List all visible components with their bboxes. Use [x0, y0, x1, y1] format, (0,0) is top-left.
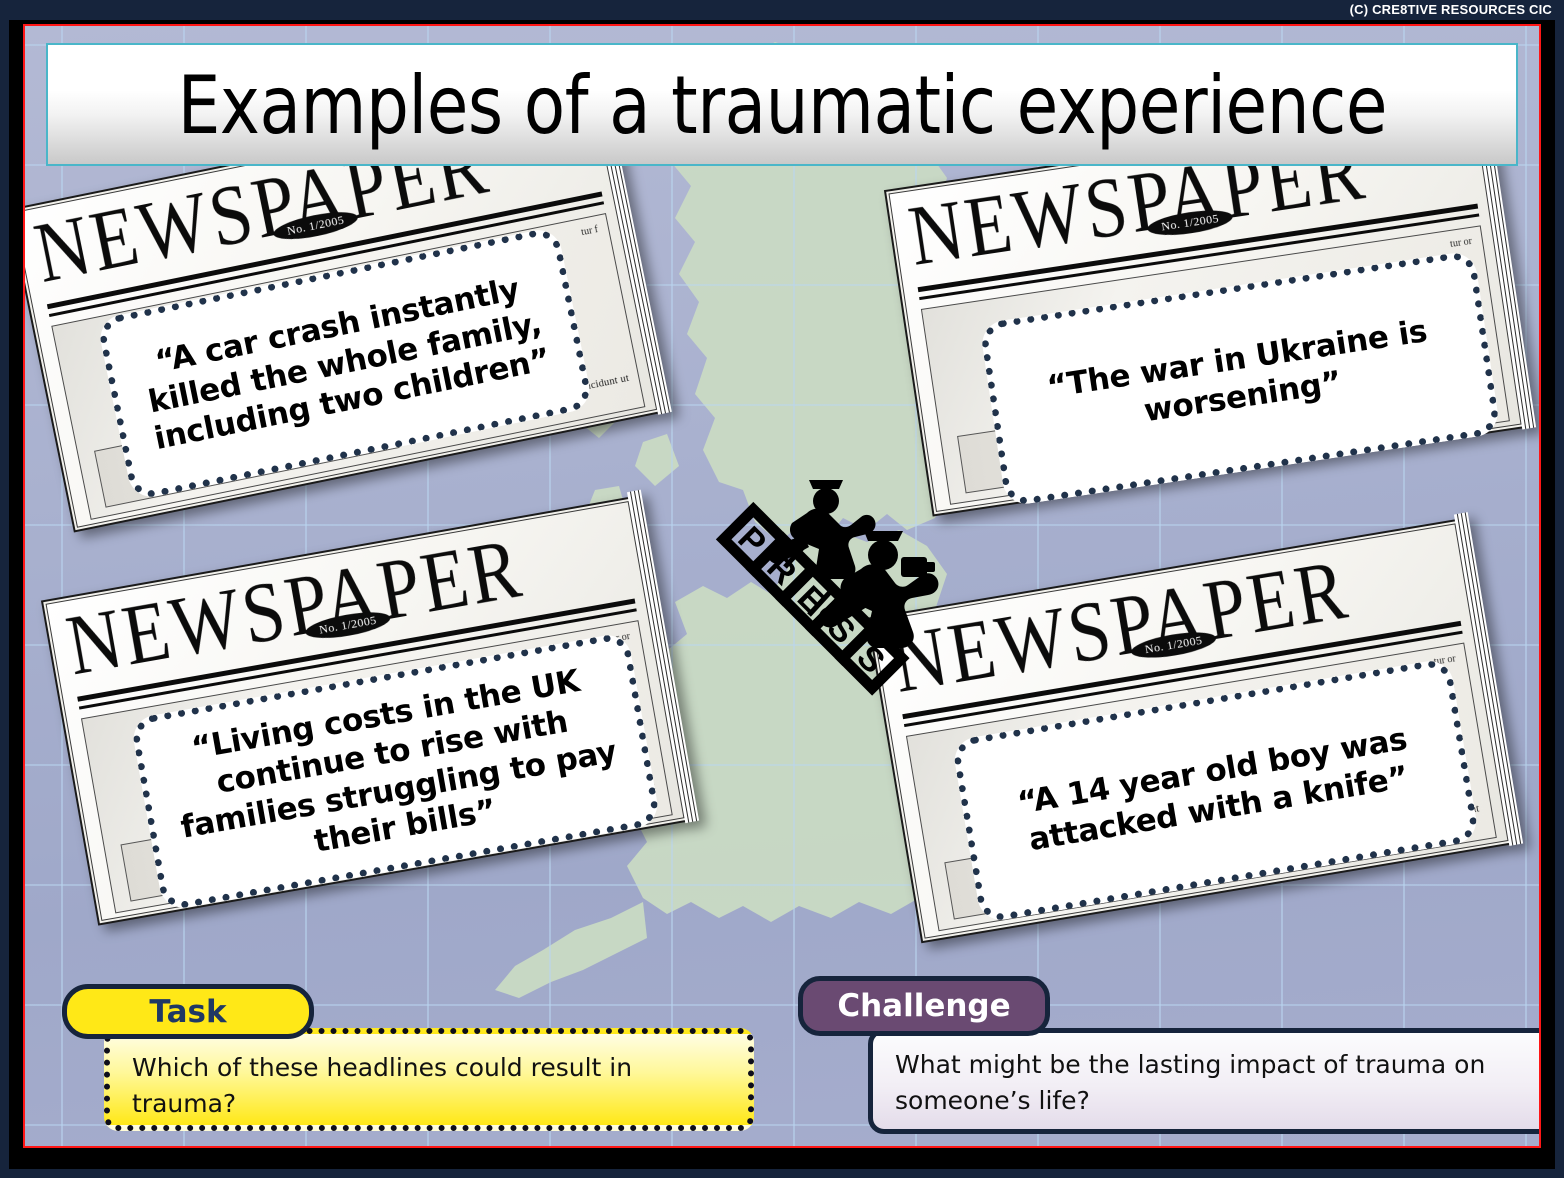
task-tab-label: Task: [149, 994, 226, 1030]
headline-text: “A 14 year old boy was attacked with a k…: [989, 716, 1442, 864]
task-body-text: Which of these headlines could result in…: [132, 1050, 726, 1121]
newspaper-column-hint: tur or: [1449, 234, 1473, 252]
slide-title-bar: Examples of a traumatic experience: [46, 43, 1518, 166]
slide-canvas: Examples of a traumatic experience NEWSP…: [25, 26, 1539, 1146]
slide-frame: (C) CRE8TIVE RESOURCES CIC: [0, 0, 1564, 1178]
challenge-body-text: What might be the lasting impact of trau…: [895, 1047, 1531, 1118]
task-body: Which of these headlines could result in…: [104, 1028, 754, 1131]
challenge-tab-label: Challenge: [837, 988, 1010, 1024]
newspaper-column-hint: tur f: [580, 222, 600, 240]
headline-text: “The war in Ukraine is worsening”: [1016, 308, 1464, 448]
challenge-tab[interactable]: Challenge: [798, 976, 1050, 1036]
page-title: Examples of a traumatic experience: [177, 57, 1386, 151]
task-tab[interactable]: Task: [62, 984, 314, 1039]
copyright-notice: (C) CRE8TIVE RESOURCES CIC: [0, 0, 1564, 22]
challenge-body: What might be the lasting impact of trau…: [868, 1028, 1539, 1134]
press-logo-icon: P R E S S: [655, 441, 945, 731]
